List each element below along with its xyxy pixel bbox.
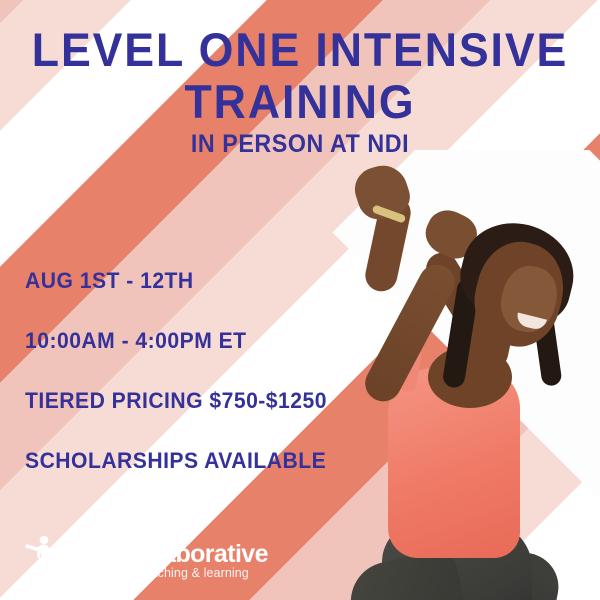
detail-scholarships: SCHOLARSHIPS AVAILABLE	[25, 448, 390, 474]
logo-collaborative: collaborative	[121, 542, 267, 566]
logo-wordmark: ndi	[56, 546, 114, 582]
detail-pricing: TIERED PRICING $750-$1250	[25, 388, 390, 414]
poster-headline: LEVEL ONE INTENSIVE TRAINING	[15, 24, 585, 128]
promotional-poster: LEVEL ONE INTENSIVE TRAINING IN PERSON A…	[0, 0, 600, 600]
detail-dates: AUG 1ST - 12TH	[25, 268, 390, 294]
poster-subtitle: IN PERSON AT NDI	[21, 130, 579, 159]
headline-line-2: TRAINING	[15, 76, 585, 128]
detail-times: 10:00AM - 4:00PM ET	[25, 328, 390, 354]
logo-tagline: for teaching & learning	[121, 566, 267, 580]
headline-line-1: LEVEL ONE INTENSIVE	[15, 24, 585, 76]
logo-text-block: collaborative for teaching & learning	[121, 542, 267, 582]
poster-details: AUG 1ST - 12TH 10:00AM - 4:00PM ET TIERE…	[25, 268, 405, 508]
ndi-logo: ndi collaborative for teaching & learnin…	[22, 532, 268, 582]
